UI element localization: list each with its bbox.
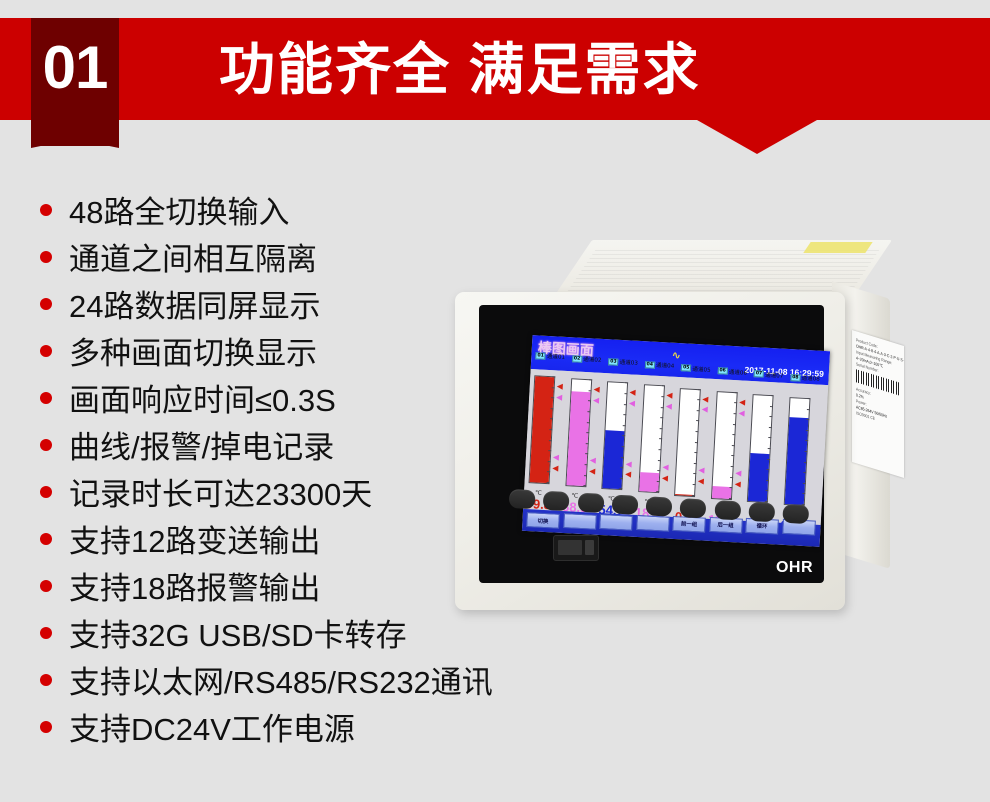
scale-tick: [734, 392, 737, 393]
list-item: 支持以太网/RS485/RS232通讯: [40, 656, 640, 703]
alarm-marker-icon: [553, 455, 559, 461]
scale-tick: [696, 431, 699, 432]
alarm-marker-icon: [557, 383, 563, 389]
scale-tick: [622, 446, 625, 447]
scale-tick: [730, 466, 733, 467]
alarm-marker-icon: [556, 394, 562, 400]
device-key[interactable]: [748, 501, 775, 521]
scale-tick: [769, 427, 772, 428]
scale-tick: [588, 401, 591, 402]
page-title: 功能齐全 满足需求: [219, 26, 701, 114]
alarm-marker-icon: [593, 387, 599, 393]
channel-tag-01: 01通道01: [535, 351, 565, 361]
scale-tick: [731, 445, 734, 446]
scale-tick: [583, 475, 586, 476]
device-key[interactable]: [714, 500, 741, 520]
alarm-marker-icon: [662, 464, 668, 470]
scale-tick: [625, 382, 628, 383]
scale-tick: [659, 428, 662, 429]
alarm-marker-icon: [629, 390, 635, 396]
channel-badge: 01: [535, 352, 546, 360]
bullet-icon: [40, 580, 52, 592]
scale-tick: [547, 471, 550, 472]
device-spec-label: Product Code: OHR-A·4·8·4·A·A·3·C·2·P·U·…: [852, 330, 904, 478]
scale-tick: [551, 397, 554, 398]
scale-tick: [802, 493, 805, 494]
scale-tick: [548, 461, 551, 462]
scale-tick: [770, 406, 773, 407]
channel-badge: 02: [572, 355, 583, 363]
feature-label: 24路数据同屏显示: [69, 281, 320, 326]
scale-tick: [621, 457, 624, 458]
scale-tick: [693, 484, 696, 485]
bar-scale-ticks: [764, 396, 774, 502]
scale-tick: [694, 463, 697, 464]
scale-tick: [550, 419, 553, 420]
scale-tick: [804, 451, 807, 452]
alarm-marker-icon: [698, 467, 704, 473]
bullet-icon: [40, 486, 52, 498]
scale-tick: [622, 435, 625, 436]
scale-tick: [624, 393, 627, 394]
scale-tick: [657, 460, 660, 461]
scale-tick: [733, 413, 736, 414]
scale-tick: [620, 467, 623, 468]
channel-name: 通道02: [583, 355, 602, 364]
bullet-icon: [40, 533, 52, 545]
channel-badge: 03: [608, 358, 619, 366]
feature-label: 支持以太网/RS485/RS232通讯: [69, 657, 493, 702]
bar-tube: [529, 375, 556, 484]
scale-tick: [585, 453, 588, 454]
scale-tick: [769, 416, 772, 417]
scale-tick: [768, 448, 771, 449]
device-front-panel: 棒图画面 ∿ 2017-11-08 16:29:59 01通道0102通道020…: [479, 305, 824, 583]
feature-label: 支持18路报警输出: [69, 563, 320, 608]
section-number: 01: [31, 18, 119, 118]
channel-name: 通道01: [547, 352, 566, 361]
channel-name: 通道06: [729, 368, 748, 377]
alarm-marker-icon: [702, 407, 708, 413]
bullet-icon: [40, 439, 52, 451]
bullet-icon: [40, 298, 52, 310]
alarm-marker-icon: [698, 478, 704, 484]
scale-tick: [660, 417, 663, 418]
alarm-marker-icon: [625, 472, 631, 478]
sd-slot-icon: [558, 540, 582, 555]
channel-badge: 05: [681, 364, 692, 372]
channel-name: 通道04: [656, 361, 675, 370]
scale-tick: [767, 458, 770, 459]
scale-tick: [657, 470, 660, 471]
device-key[interactable]: [646, 496, 673, 516]
scale-tick: [658, 449, 661, 450]
scale-tick: [805, 440, 808, 441]
header-notch-triangle: [697, 120, 817, 154]
scale-tick: [732, 424, 735, 425]
feature-label: 支持DC24V工作电源: [69, 704, 355, 749]
bullet-icon: [40, 204, 52, 216]
device-recorder: Product Code: OHR-A·4·8·4·A·A·3·C·2·P·U·…: [440, 240, 870, 640]
channel-name: 通道03: [619, 358, 638, 367]
scale-tick: [698, 389, 701, 390]
list-item: 支持DC24V工作电源: [40, 703, 640, 750]
bar-tube: [601, 382, 628, 491]
scale-tick: [805, 430, 808, 431]
device-key[interactable]: [543, 490, 570, 510]
channel-tag-06: 06通道06: [717, 367, 747, 377]
bar-tube: [747, 394, 774, 503]
scale-tick: [771, 395, 774, 396]
bar-tube: [710, 391, 737, 500]
scale-tick: [659, 439, 662, 440]
scale-tick: [806, 419, 809, 420]
feature-label: 48路全切换输入: [69, 187, 289, 232]
bullet-icon: [40, 251, 52, 263]
scale-tick: [729, 487, 732, 488]
feature-label: 画面响应时间≤0.3S: [69, 375, 336, 420]
bar-tube: [565, 378, 592, 487]
channel-name: 通道08: [801, 374, 820, 383]
alarm-marker-icon: [665, 404, 671, 410]
device-key[interactable]: [680, 498, 707, 518]
scale-tick: [803, 472, 806, 473]
scale-tick: [696, 420, 699, 421]
bar-tube: [674, 388, 701, 497]
bullet-icon: [40, 721, 52, 733]
bullet-icon: [40, 674, 52, 686]
feature-label: 记录时长可达23300天: [69, 469, 372, 514]
scale-tick: [804, 462, 807, 463]
alarm-marker-icon: [702, 396, 708, 402]
device-yellow-tag: [803, 242, 872, 253]
list-item: 48路全切换输入: [40, 186, 640, 233]
device-key[interactable]: [577, 492, 604, 512]
bullet-icon: [40, 627, 52, 639]
scale-tick: [732, 434, 735, 435]
channel-name: 通道05: [692, 364, 711, 373]
scale-tick: [661, 396, 664, 397]
alarm-marker-icon: [738, 410, 744, 416]
scale-tick: [584, 464, 587, 465]
bar-tube: [638, 385, 665, 494]
scale-tick: [620, 478, 623, 479]
scale-tick: [697, 399, 700, 400]
channel-tag-07: 07通道07: [754, 370, 784, 380]
bar-tube: [783, 397, 810, 506]
scale-tick: [734, 402, 737, 403]
channel-tag-08: 08通道08: [790, 373, 820, 383]
scale-tick: [697, 410, 700, 411]
alarm-marker-icon: [661, 475, 667, 481]
scale-tick: [547, 482, 550, 483]
feature-label: 多种画面切换显示: [69, 328, 317, 373]
scale-tick: [693, 473, 696, 474]
channel-tag-03: 03通道03: [608, 358, 638, 368]
scale-tick: [586, 422, 589, 423]
channel-tag-05: 05通道05: [681, 364, 711, 374]
alarm-marker-icon: [734, 481, 740, 487]
device-key[interactable]: [611, 494, 638, 514]
scale-tick: [765, 490, 768, 491]
scale-tick: [549, 440, 552, 441]
usb-sd-port[interactable]: [553, 535, 599, 561]
scale-tick: [694, 452, 697, 453]
alarm-marker-icon: [589, 469, 595, 475]
device-key[interactable]: [509, 488, 536, 508]
alarm-marker-icon: [589, 458, 595, 464]
bullet-icon: [40, 345, 52, 357]
alarm-marker-icon: [629, 400, 635, 406]
device-key[interactable]: [782, 503, 809, 523]
scale-tick: [802, 483, 805, 484]
scale-tick: [624, 404, 627, 405]
scale-tick: [807, 398, 810, 399]
scale-tick: [586, 432, 589, 433]
scale-tick: [589, 379, 592, 380]
feature-label: 通道之间相互隔离: [69, 234, 317, 279]
scale-tick: [623, 414, 626, 415]
scale-tick: [660, 407, 663, 408]
scale-tick: [767, 469, 770, 470]
usb-slot-icon: [585, 540, 594, 555]
scale-tick: [768, 437, 771, 438]
scale-tick: [588, 390, 591, 391]
alarm-marker-icon: [626, 461, 632, 467]
channel-badge: 06: [717, 367, 728, 375]
scale-tick: [766, 480, 769, 481]
feature-label: 支持12路变送输出: [69, 516, 320, 561]
channel-tag-02: 02通道02: [572, 354, 602, 364]
channel-tag-04: 04通道04: [644, 361, 674, 371]
channel-name: 通道07: [765, 371, 784, 380]
header-notch: [0, 120, 990, 154]
scale-tick: [552, 376, 555, 377]
channel-badge: 07: [754, 371, 765, 379]
scale-tick: [623, 425, 626, 426]
alarm-marker-icon: [739, 399, 745, 405]
device-front-bezel: 棒图画面 ∿ 2017-11-08 16:29:59 01通道0102通道020…: [455, 292, 845, 610]
scale-tick: [585, 443, 588, 444]
alarm-marker-icon: [735, 470, 741, 476]
scale-tick: [695, 442, 698, 443]
feature-label: 曲线/报警/掉电记录: [69, 422, 334, 467]
alarm-marker-icon: [666, 393, 672, 399]
scale-tick: [587, 411, 590, 412]
channel-badge: 08: [790, 374, 801, 382]
scale-tick: [548, 450, 551, 451]
scale-tick: [551, 408, 554, 409]
scale-tick: [549, 429, 552, 430]
alarm-marker-icon: [552, 465, 558, 471]
scale-tick: [806, 409, 809, 410]
feature-label: 支持32G USB/SD卡转存: [69, 610, 407, 655]
scale-tick: [731, 455, 734, 456]
scale-tick: [552, 387, 555, 388]
channel-badge: 04: [644, 361, 655, 369]
brand-logo: OHR: [776, 559, 813, 577]
bullet-icon: [40, 392, 52, 404]
scale-tick: [730, 477, 733, 478]
alarm-marker-icon: [592, 397, 598, 403]
scale-tick: [656, 481, 659, 482]
scale-tick: [661, 386, 664, 387]
